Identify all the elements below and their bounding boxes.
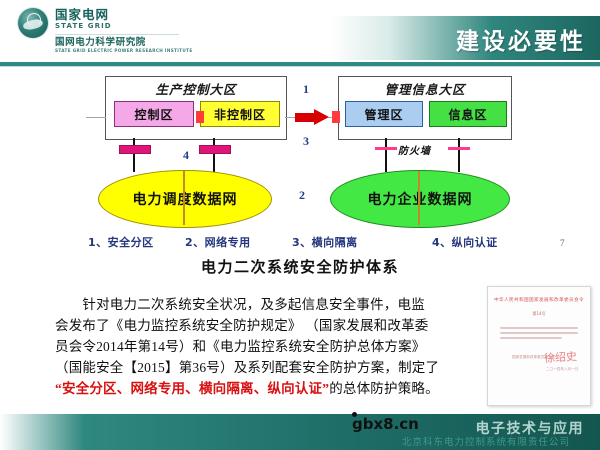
management-info-zone-box: 管理信息大区 管理区 信息区: [338, 76, 512, 140]
isolation-marker-icon-2: [332, 111, 340, 123]
logo-text-block: 国家电网 STATE GRID 国网电力科学研究院 STATE GRID ELE…: [55, 8, 193, 54]
legend-item-1: 1、安全分区: [88, 234, 154, 250]
body-line-2: 会发布了《电力监控系统安全防护规定》 （国家发展和改革委: [55, 315, 475, 336]
paragraph-indent: [55, 297, 82, 312]
marker-number-3: 3: [303, 134, 309, 149]
firewall-marker-1: [375, 147, 397, 150]
production-zone-title: 生产控制大区: [106, 79, 286, 98]
slide-page-number: 7: [560, 238, 565, 248]
security-architecture-diagram: 生产控制大区 控制区 非控制区 管理信息大区 管理区 信息区 1 3 4 2 防…: [0, 70, 600, 278]
slide-header: 国家电网 STATE GRID 国网电力科学研究院 STATE GRID ELE…: [0, 0, 600, 62]
state-grid-emblem-icon: [18, 8, 48, 38]
logo-institute-cn: 国网电力科学研究院: [55, 37, 193, 48]
body-line-3: 员会令2014年第14号）和《电力监控系统安全防护总体方案》: [55, 336, 475, 357]
page-title: 建设必要性: [456, 22, 586, 56]
vertical-auth-device-1: [119, 145, 151, 154]
firewall-marker-2: [448, 147, 470, 150]
certificate-title: 中华人民共和国国家发展和改革委员会令: [488, 297, 590, 303]
certificate-text-line-1: [500, 327, 578, 329]
diagram-caption: 电力二次系统安全防护体系: [0, 256, 600, 277]
marker-number-1: 1: [303, 82, 309, 97]
marker-number-4: 4: [183, 148, 189, 163]
regulation-document-thumbnail: 中华人民共和国国家发展和改革委员会令 第14号 国家发展和改革委员会主任 徐绍史…: [487, 286, 591, 406]
dispatch-data-network-ellipse: 电力调度数据网: [98, 170, 272, 228]
enterprise-data-network-ellipse: 电力企业数据网: [330, 170, 510, 228]
site-watermark: gbx8.cn: [352, 415, 419, 433]
info-area-box: 信息区: [429, 101, 507, 127]
management-zone-title: 管理信息大区: [339, 79, 511, 98]
dispatch-net-divider: [183, 171, 185, 225]
state-grid-logo: 国家电网 STATE GRID 国网电力科学研究院 STATE GRID ELE…: [18, 8, 193, 54]
admin-area-box: 管理区: [345, 101, 423, 127]
connector-line-left: [86, 117, 106, 118]
control-area-box: 控制区: [114, 101, 194, 127]
body-line-5: “安全分区、网络专用、横向隔离、纵向认证”的总体防护策略。: [55, 378, 475, 399]
body-line-5-tail: 的总体防护策略。: [329, 381, 439, 396]
legend-item-2: 2、网络专用: [185, 234, 251, 250]
vertical-link-2: [213, 138, 215, 172]
policy-emphasis-text: “安全分区、网络专用、横向隔离、纵向认证”: [55, 381, 329, 396]
header-rule-thin: [0, 66, 600, 67]
certificate-date: 二〇一四年八月一日: [546, 367, 578, 372]
legend-item-4: 4、纵向认证: [432, 234, 498, 250]
vertical-link-4: [458, 138, 460, 172]
vertical-link-3: [385, 138, 387, 172]
footer-company: 北京科东电力控制系统有限责任公司: [402, 434, 570, 448]
horizontal-isolation-arrow-icon: [295, 109, 329, 125]
marker-number-2: 2: [299, 188, 305, 203]
firewall-label: 防火墙: [398, 142, 431, 157]
non-control-area-box: 非控制区: [200, 101, 280, 127]
vertical-auth-device-2: [199, 145, 231, 154]
certificate-text-line-3: [500, 337, 562, 339]
body-paragraph: 针对电力二次系统安全状况，及多起信息安全事件，电监 会发布了《电力监控系统安全防…: [55, 294, 475, 399]
logo-company-en: STATE GRID: [55, 22, 193, 31]
slide-canvas: 国家电网 STATE GRID 国网电力科学研究院 STATE GRID ELE…: [0, 0, 600, 450]
logo-institute-en: STATE GRID ELECTRIC POWER RESEARCH INSTI…: [55, 48, 193, 54]
body-line-1-text: 针对电力二次系统安全状况，及多起信息安全事件，电监: [82, 297, 425, 312]
certificate-subtitle: 第14号: [488, 311, 590, 317]
production-control-zone-box: 生产控制大区 控制区 非控制区: [105, 76, 287, 140]
certificate-signature: 徐绍史: [543, 348, 577, 366]
vertical-link-1: [133, 138, 135, 172]
logo-company-cn: 国家电网: [55, 8, 193, 21]
logo-divider: [55, 34, 179, 35]
isolation-marker-icon-1: [196, 111, 204, 123]
enterprise-net-divider: [418, 171, 420, 225]
certificate-text-line-2: [500, 332, 578, 334]
body-line-1: 针对电力二次系统安全状况，及多起信息安全事件，电监: [55, 294, 475, 315]
body-line-4: （国能安全【2015】第36号）及系列配套安全防护方案，制定了: [55, 357, 475, 378]
legend-item-3: 3、横向隔离: [292, 234, 358, 250]
